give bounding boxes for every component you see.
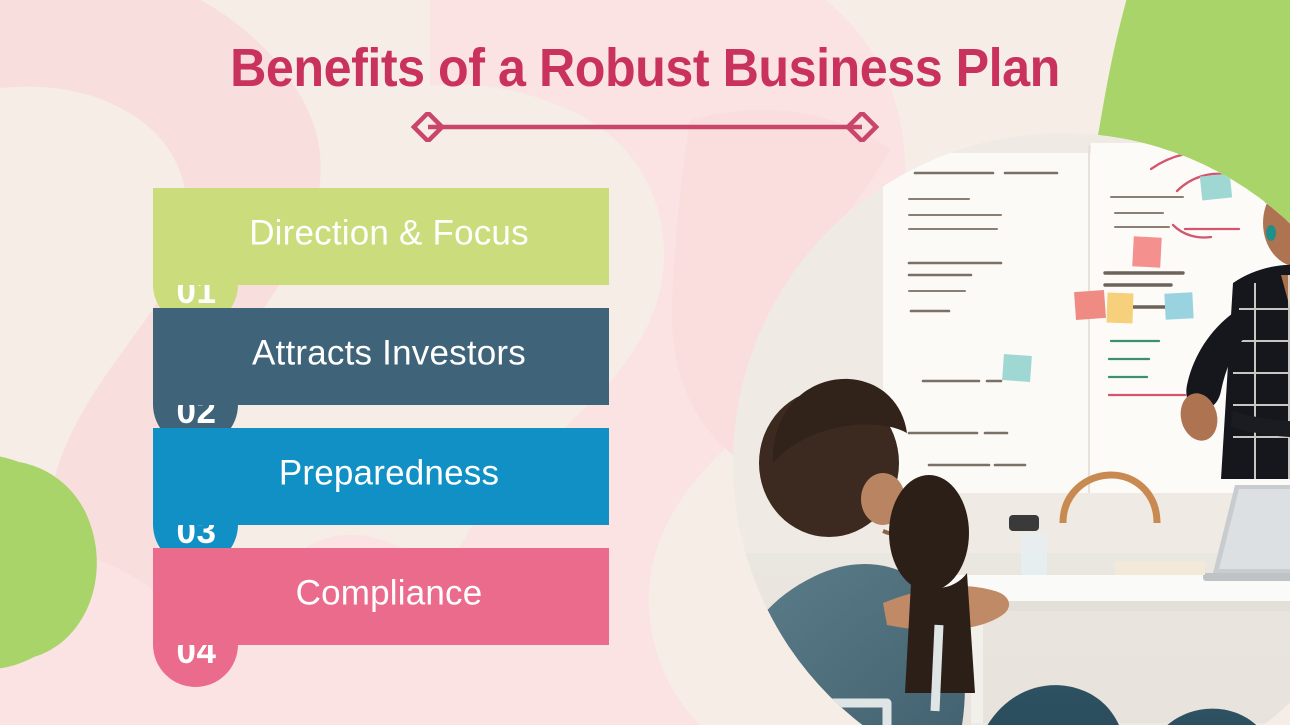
benefit-label: Compliance: [153, 575, 609, 610]
benefit-bar[interactable]: Preparedness: [153, 428, 609, 525]
green-blob-left-2: [0, 454, 88, 669]
coffee-cup: [1009, 515, 1039, 531]
benefit-row[interactable]: Direction & Focus 01: [153, 188, 609, 285]
sticky-note-blue: [1164, 292, 1193, 319]
benefit-bar[interactable]: Direction & Focus: [153, 188, 609, 285]
sticky-note-pink: [1132, 236, 1162, 267]
benefit-bar[interactable]: Attracts Investors: [153, 308, 609, 405]
divider: [0, 112, 1290, 142]
benefit-row[interactable]: Attracts Investors 02: [153, 308, 609, 405]
benefit-label: Attracts Investors: [153, 335, 609, 370]
meeting-photo: [733, 133, 1290, 725]
title-block: Benefits of a Robust Business Plan: [0, 38, 1290, 98]
sticky-note-red: [1074, 290, 1106, 320]
whiteboard-left: [883, 153, 1098, 493]
benefit-row[interactable]: Compliance 04: [153, 548, 609, 645]
benefits-list: Direction & Focus 01 Attracts Investors …: [153, 188, 609, 645]
benefit-bar[interactable]: Compliance: [153, 548, 609, 645]
green-blob-left: [0, 461, 97, 660]
sticky-note-mint: [1002, 354, 1032, 382]
benefit-label: Direction & Focus: [153, 215, 609, 250]
sticky-note-yellow: [1106, 293, 1133, 324]
sticky-note-teal: [1200, 173, 1232, 200]
water-glass: [1021, 533, 1047, 575]
notebook: [1115, 561, 1205, 575]
page-title: Benefits of a Robust Business Plan: [45, 38, 1245, 98]
benefit-label: Preparedness: [153, 455, 609, 490]
benefit-row[interactable]: Preparedness 03: [153, 428, 609, 525]
slide-canvas: Benefits of a Robust Business Plan: [0, 0, 1290, 725]
